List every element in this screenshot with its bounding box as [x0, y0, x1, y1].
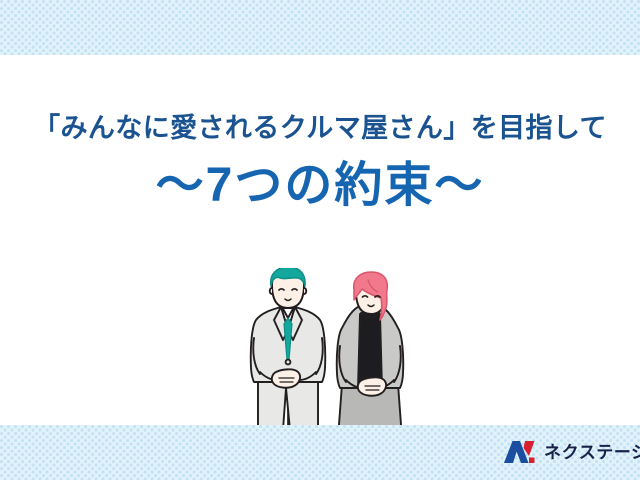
staff-illustration-graphic: [236, 268, 408, 430]
staff-illustration: [236, 268, 408, 430]
brand-logo: ネクステージ: [503, 440, 640, 464]
headline-primary: 「みんなに愛されるクルマ屋さん」を目指して: [0, 112, 640, 144]
businessman-figure: [251, 268, 326, 430]
brand-wordmark: ネクステージ: [544, 444, 640, 461]
headline-secondary: 〜7つの約束〜: [0, 158, 640, 213]
headline-block: 「みんなに愛されるクルマ屋さん」を目指して 〜7つの約束〜: [0, 112, 640, 214]
promotional-banner: 「みんなに愛されるクルマ屋さん」を目指して 〜7つの約束〜: [0, 0, 640, 480]
top-dot-band: [0, 0, 640, 55]
nextage-n-mark-icon: [503, 440, 537, 464]
businesswoman-figure: [337, 272, 404, 430]
